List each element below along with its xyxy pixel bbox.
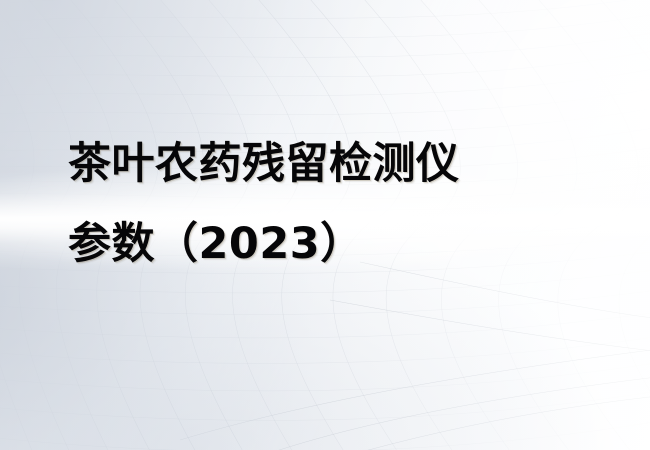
page-title: 茶叶农药残留检测仪 参数（2023） <box>68 124 608 284</box>
page-title-line-1: 茶叶农药残留检测仪 <box>68 124 608 204</box>
banner-image: 茶叶农药残留检测仪 参数（2023） <box>0 0 650 450</box>
page-title-line-2: 参数（2023） <box>68 204 608 284</box>
